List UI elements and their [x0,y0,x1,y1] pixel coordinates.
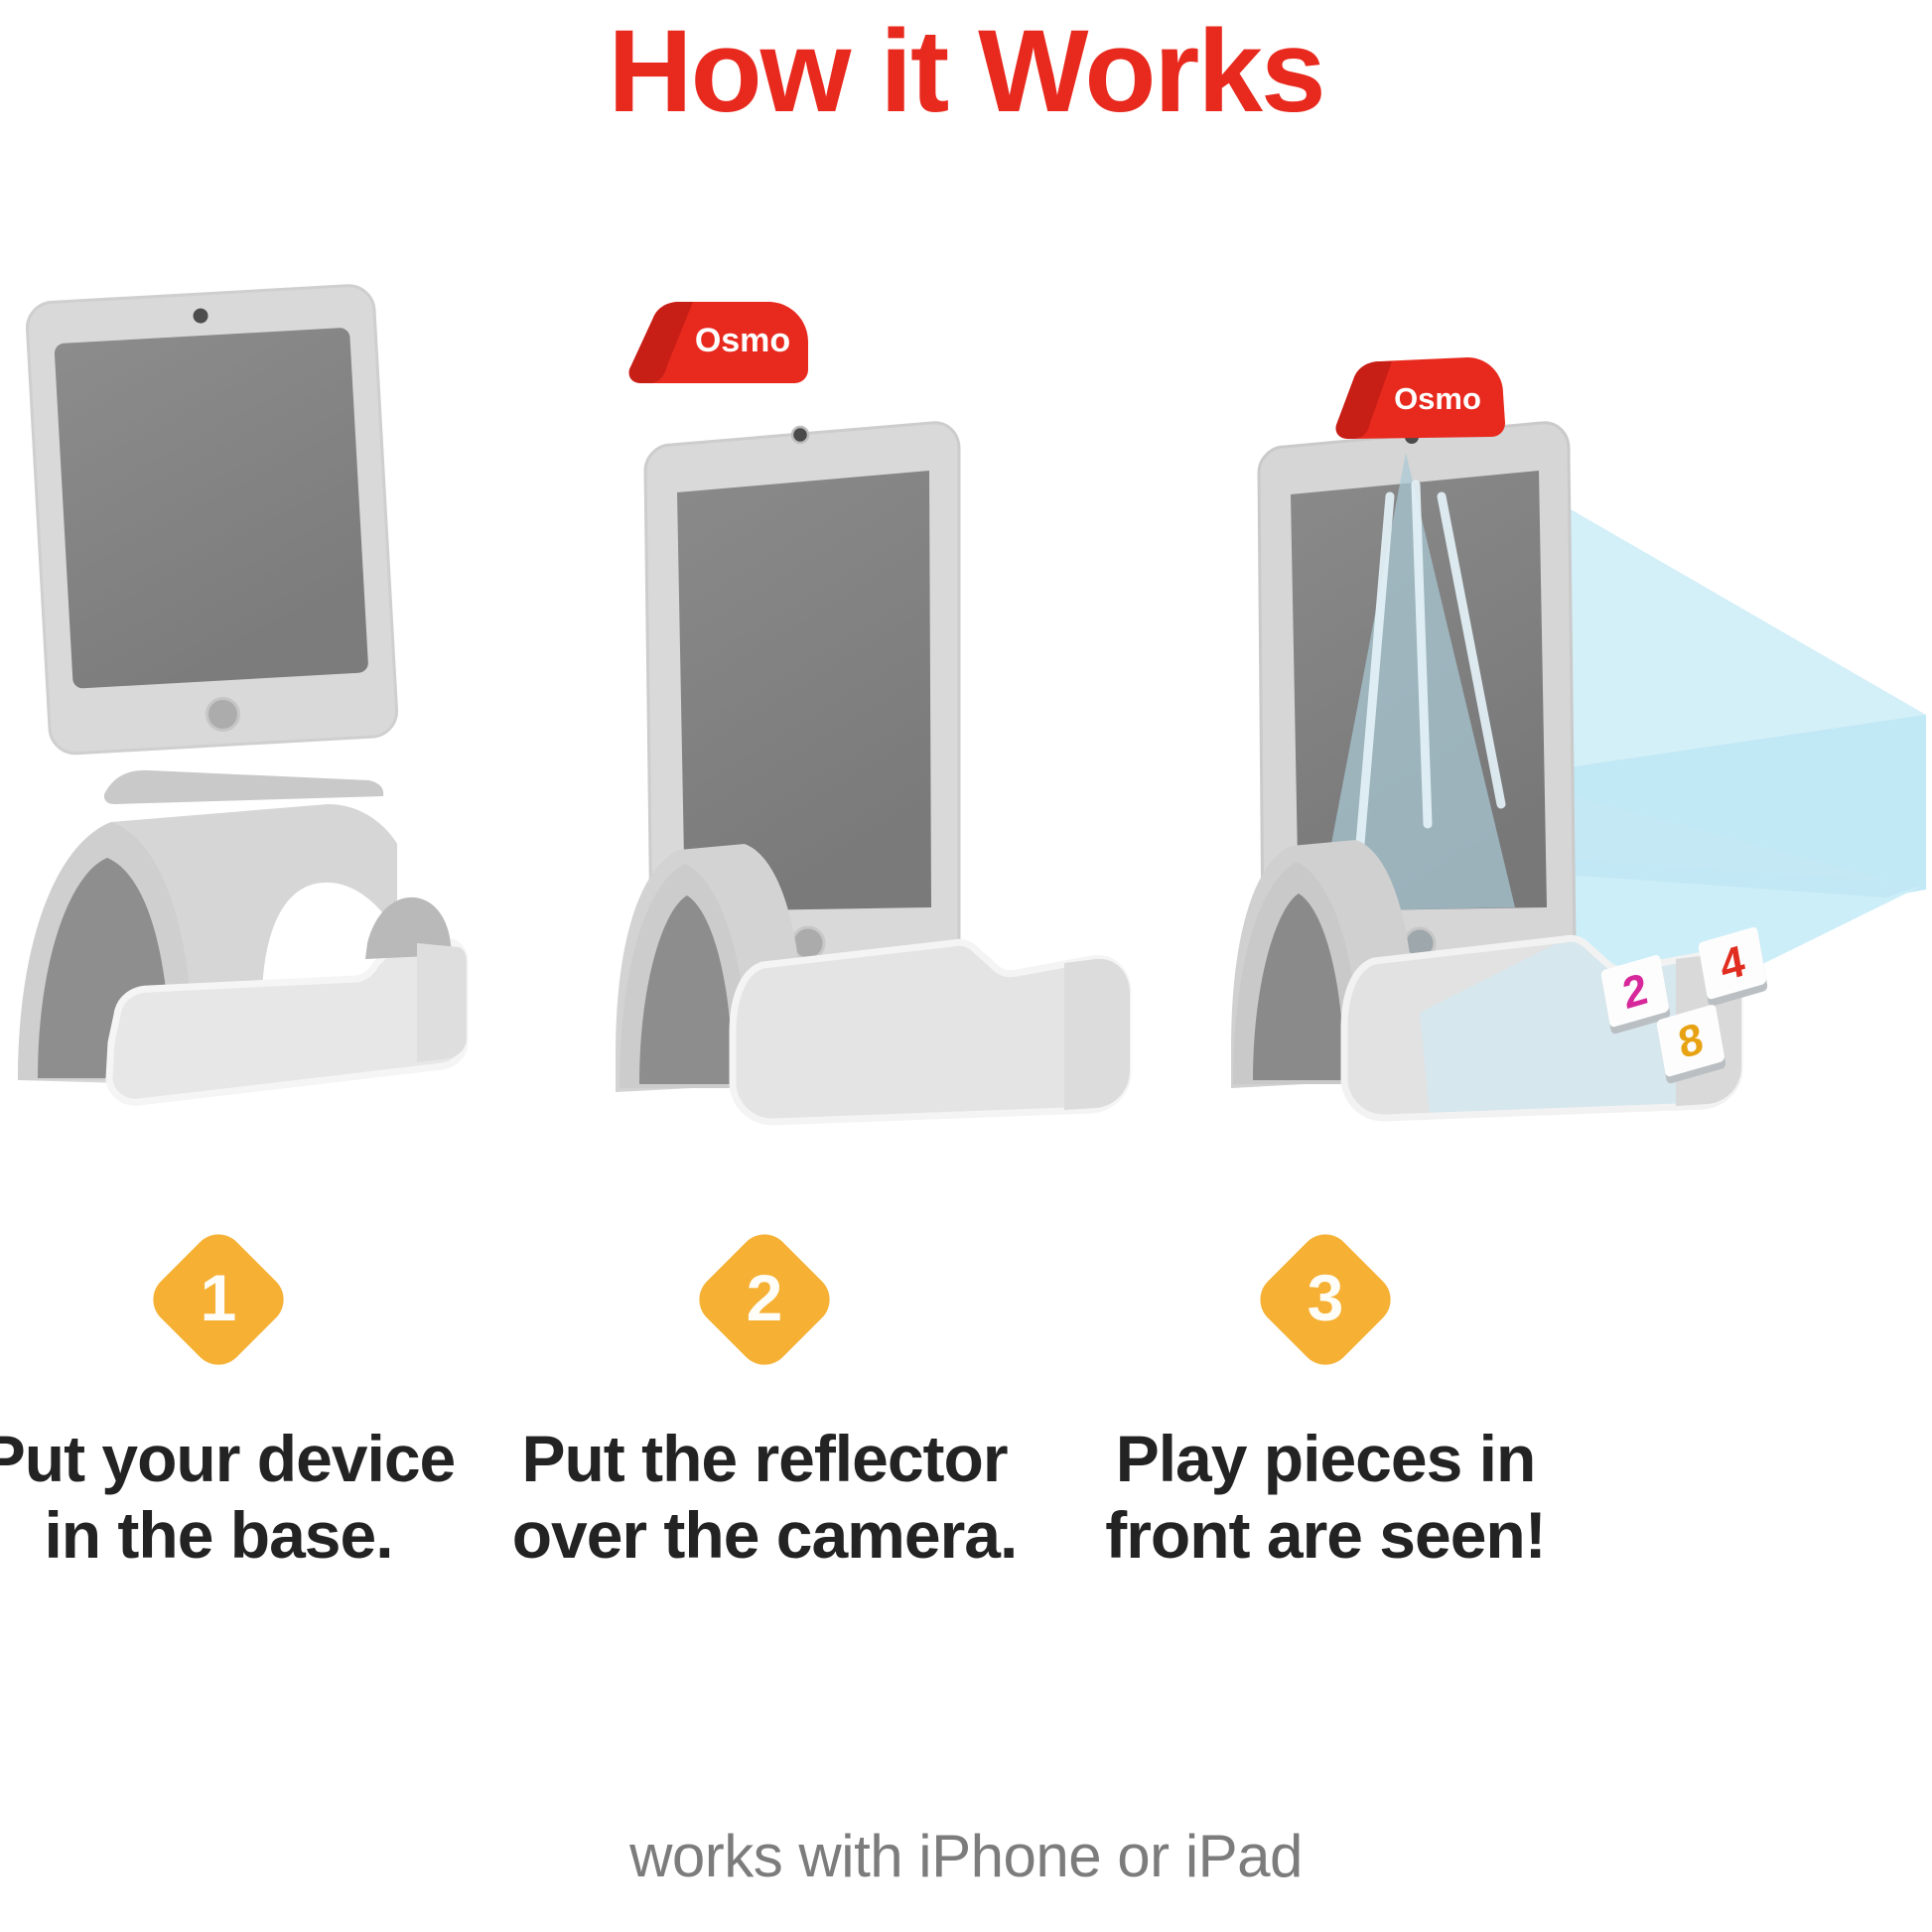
caption-line-1: Play pieces in [1116,1422,1536,1495]
steps-row: 1 Put your device in the base. 2 Put the… [0,1246,1932,1723]
caption-line-2: over the camera. [486,1497,1042,1574]
caption-line-1: Put your device [0,1422,455,1495]
step-badge-2: 2 [711,1246,818,1353]
caption-line-2: in the base. [0,1497,496,1574]
step-1: 1 Put your device in the base. [0,1246,496,1573]
step-caption: Put the reflector over the camera. [486,1421,1042,1573]
step-2: 2 Put the reflector over the camera. [486,1246,1042,1573]
step-3: 3 Play pieces in front are seen! [1047,1246,1603,1573]
step-badge-1: 1 [165,1246,272,1353]
panel-device-scanning-pieces: Osmo 2 [1231,248,1874,1191]
osmo-reflector: Osmo [629,302,808,383]
reflector-logo-text: Osmo [695,322,790,359]
step-number: 1 [165,1246,272,1353]
compatibility-note: works with iPhone or iPad [0,1822,1932,1890]
caption-line-1: Put the reflector [521,1422,1007,1495]
panel-device-and-base-separate [0,248,643,1191]
caption-line-2: front are seen! [1047,1497,1603,1574]
how-it-works-panels: Osmo [0,248,1932,1191]
step-badge-3: 3 [1272,1246,1379,1353]
osmo-base [18,770,467,1102]
step-caption: Put your device in the base. [0,1421,496,1573]
osmo-reflector: Osmo [1336,357,1505,439]
step-number: 2 [711,1246,818,1353]
step-number: 3 [1272,1246,1379,1353]
page-title: How it Works [0,8,1932,137]
panel-device-in-base-with-reflector: Osmo [616,248,1259,1191]
step-caption: Play pieces in front are seen! [1047,1421,1603,1573]
reflector-logo-text: Osmo [1394,381,1481,416]
tablet-device [26,284,398,755]
